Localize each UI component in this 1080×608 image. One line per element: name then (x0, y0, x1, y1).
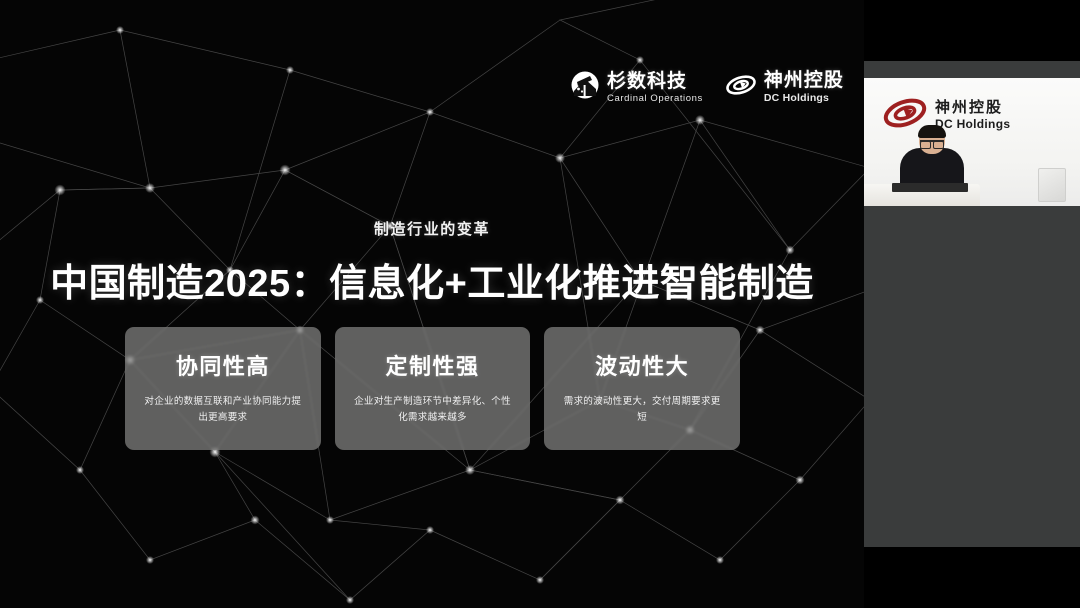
dc-holdings-logo-icon (725, 71, 757, 104)
participant-sidebar: 神州控股 DC Holdings (864, 0, 1080, 608)
logo-cardinal-operations: 杉数科技 Cardinal Operations (570, 70, 703, 105)
laptop (1038, 168, 1066, 202)
cardinal-operations-logo-icon (570, 70, 600, 105)
shared-slide[interactable]: 杉数科技 Cardinal Operations 神州控股 (0, 0, 864, 608)
feature-card: 定制性强 企业对生产制造环节中差异化、个性化需求越来越多 (335, 327, 531, 450)
logo-dc-en: DC Holdings (764, 93, 844, 104)
desk-monitor-edge (892, 183, 968, 192)
slide-eyebrow: 制造行业的变革 (0, 218, 864, 239)
feature-card: 波动性大 需求的波动性更大，交付周期要求更短 (544, 327, 740, 450)
feature-card-title: 协同性高 (176, 349, 270, 381)
feature-card-list: 协同性高 对企业的数据互联和产业协同能力提出更高要求 定制性强 企业对生产制造环… (125, 327, 740, 450)
feature-card: 协同性高 对企业的数据互联和产业协同能力提出更高要求 (125, 327, 321, 450)
slide-title: 中国制造2025：信息化+工业化推进智能制造 (0, 252, 864, 307)
meeting-screen: 杉数科技 Cardinal Operations 神州控股 (0, 0, 1080, 608)
logo-cardinal-cn: 杉数科技 (607, 72, 703, 91)
feature-card-description: 需求的波动性更大，交付周期要求更短 (560, 394, 724, 425)
logo-dc-cn: 神州控股 (764, 71, 844, 90)
video-tile-top-strip (864, 61, 1080, 78)
participant-video-tile[interactable]: 神州控股 DC Holdings (864, 61, 1080, 547)
participant-video-frame: 神州控股 DC Holdings (864, 78, 1080, 206)
participant-hair (918, 125, 946, 138)
wall-logo-en: DC Holdings (935, 118, 1010, 131)
feature-card-description: 企业对生产制造环节中差异化、个性化需求越来越多 (350, 394, 514, 425)
participant-glasses (920, 140, 944, 145)
feature-card-description: 对企业的数据互联和产业协同能力提出更高要求 (141, 394, 305, 425)
feature-card-title: 波动性大 (595, 349, 689, 381)
wall-logo-cn: 神州控股 (935, 100, 1010, 116)
slide-logo-bar: 杉数科技 Cardinal Operations 神州控股 (570, 70, 844, 105)
wall-dc-holdings-logo: 神州控股 DC Holdings (882, 93, 1010, 138)
feature-card-title: 定制性强 (386, 349, 480, 381)
logo-cardinal-en: Cardinal Operations (607, 94, 703, 104)
logo-dc-holdings: 神州控股 DC Holdings (725, 71, 844, 104)
